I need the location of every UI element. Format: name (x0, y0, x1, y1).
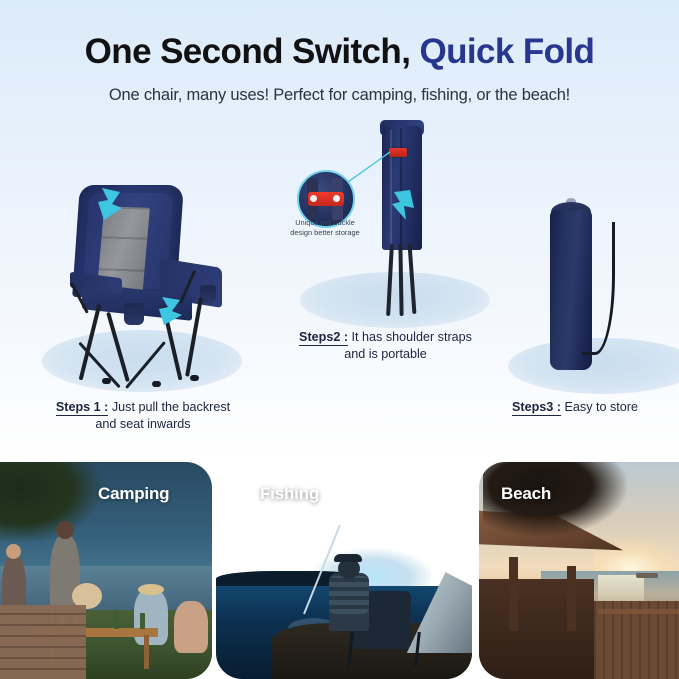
folded-chair-body (382, 126, 422, 250)
magnifier-rivet-left (310, 195, 317, 202)
photo-label-beach: Beach (501, 484, 551, 504)
photo-fishing[interactable]: Fishing (216, 462, 472, 679)
photo-camping[interactable]: Camping (0, 462, 212, 679)
page-title-accent: Quick Fold (419, 32, 594, 71)
step-3-label: Steps3 : (512, 400, 561, 416)
beach-hut-post-2 (567, 566, 576, 631)
beach-hut-post-1 (509, 557, 518, 631)
fishing-chair-legs (347, 632, 421, 666)
page-title: One Second Switch, Quick Fold (0, 32, 679, 72)
step-2-text-line2: and is portable (344, 347, 427, 361)
fishing-person-plaid-shirt (329, 576, 369, 614)
buckle-callout-text: Unique red buckle design better storage (281, 218, 369, 238)
beach-deck-railing (598, 609, 679, 614)
camping-person-1-head (6, 544, 21, 559)
step-3-text-line1: Easy to store (565, 400, 639, 414)
fishing-person-cap (334, 554, 362, 562)
camping-person-4 (174, 601, 208, 653)
camping-bottle-3 (114, 613, 119, 629)
photo-label-camping: Camping (98, 484, 169, 504)
chair-foot-3 (190, 375, 199, 381)
buckle-callout-line1: Unique red buckle (295, 218, 355, 227)
arrow-backrest-down (96, 188, 126, 222)
instructions-section: One Second Switch, Quick Fold One chair,… (0, 0, 679, 462)
camping-tree-foliage (0, 462, 104, 544)
step-2-label: Steps2 : (299, 330, 348, 346)
arrow-seat-down (158, 297, 186, 327)
magnifier-rivet-right (333, 195, 340, 202)
page-title-plain: One Second Switch, (85, 32, 420, 71)
chair-cup-holder-left (124, 303, 144, 325)
arrow-fold-inward (390, 190, 416, 222)
camping-person-3-hat (138, 584, 164, 595)
step-1-text-line1: Just pull the backrest (112, 400, 230, 414)
step-1-caption: Steps 1 : Just pull the backrest and sea… (18, 399, 268, 433)
chair-foot-2 (152, 381, 161, 387)
buckle-leader-line (348, 150, 392, 184)
bag-shoulder-strap (582, 222, 615, 355)
beach-distant-boat (636, 573, 658, 578)
folded-leg-1 (386, 244, 394, 316)
carry-bag-illustration (538, 198, 608, 376)
buckle-callout-line2: design better storage (290, 228, 359, 237)
step-2-text-line1: It has shoulder straps (352, 330, 472, 344)
camping-person-2-head (56, 521, 74, 539)
product-infographic: One Second Switch, Quick Fold One chair,… (0, 0, 679, 679)
chair-leg-front-left (79, 304, 101, 381)
folded-chair-legs (386, 244, 420, 318)
photo-beach[interactable]: Beach (479, 462, 679, 679)
step-1-label: Steps 1 : (56, 400, 109, 416)
step-1-text-line2: and seat inwards (95, 417, 190, 431)
photo-label-fishing: Fishing (260, 484, 319, 504)
use-case-photo-strip: Camping Fishing (0, 462, 679, 679)
page-subtitle: One chair, many uses! Perfect for campin… (0, 86, 679, 105)
chair-foot-1 (102, 378, 111, 384)
step-3-caption: Steps3 : Easy to store (470, 399, 679, 416)
folded-leg-2 (398, 244, 403, 316)
chair-cup-holder-right (200, 285, 216, 303)
folded-chair-seam (400, 128, 402, 248)
folded-leg-3 (408, 244, 417, 314)
step-2-caption: Steps2 : It has shoulder straps and is p… (258, 329, 513, 363)
camping-bottle-4 (140, 613, 145, 629)
beach-deck-shadow-area (479, 579, 594, 679)
camping-table-leg-2 (144, 635, 149, 669)
open-camping-chair-illustration (40, 185, 240, 385)
camping-brick-wall (0, 605, 86, 679)
